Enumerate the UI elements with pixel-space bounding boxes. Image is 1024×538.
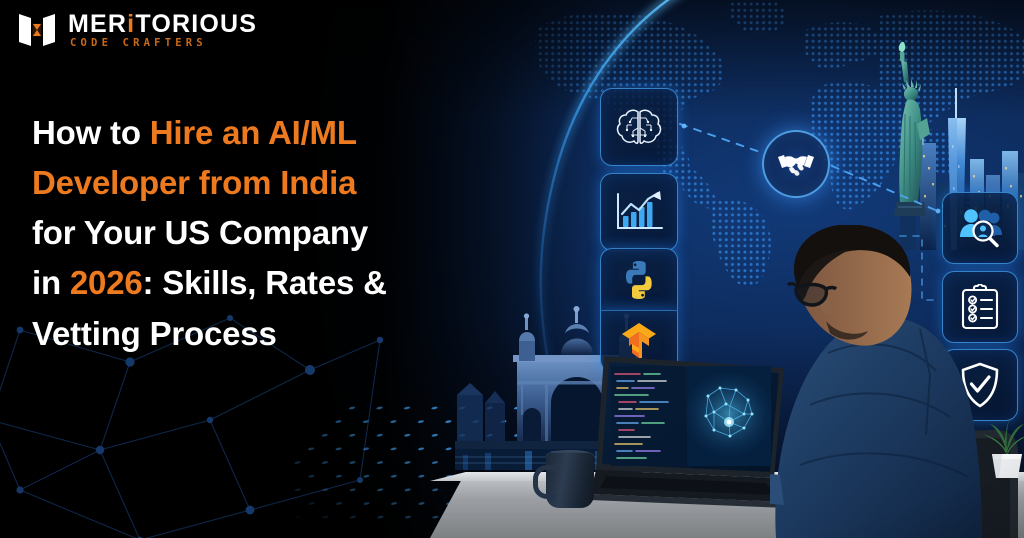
developer-person <box>770 225 1024 538</box>
brand-logo-text: MERiTORIOUS CODE CRAFTERS <box>68 12 257 49</box>
growth-chart-icon <box>614 190 664 234</box>
potted-plant <box>976 412 1024 480</box>
brand-tagline: CODE CRAFTERS <box>68 38 257 49</box>
headline-line-5: Vetting Process <box>32 309 462 359</box>
headline-line-1: How to Hire an AI/ML <box>32 108 462 158</box>
headline-line-3: for Your US Company <box>32 208 462 258</box>
handshake-icon <box>777 150 815 178</box>
headline-line-4-white-a: in <box>32 264 70 301</box>
brand-name: MERiTORIOUS <box>68 12 257 37</box>
headline-line-2: Developer from India <box>32 158 462 208</box>
handshake-node[interactable] <box>762 130 830 198</box>
headline-year: 2026 <box>70 264 143 301</box>
brand-logo[interactable]: MERiTORIOUS CODE CRAFTERS <box>18 10 257 50</box>
headline-line-4: in 2026: Skills, Rates & <box>32 258 462 308</box>
headline-line-1-white: How to <box>32 114 150 151</box>
icon-card-growth-chart[interactable] <box>600 173 678 251</box>
headline-line-1-orange: Hire an AI/ML <box>150 114 357 151</box>
brain-icon <box>615 107 663 147</box>
page-title: How to Hire an AI/ML Developer from Indi… <box>32 108 462 359</box>
python-logo-icon <box>618 259 660 301</box>
headline-line-4-white-b: : Skills, Rates & <box>143 264 387 301</box>
open-book-m-mark-icon <box>18 10 56 50</box>
laptop <box>588 352 798 512</box>
brand-name-part2: TORIOUS <box>135 10 257 38</box>
brand-name-part1: MER <box>68 10 127 38</box>
icon-card-brain[interactable] <box>600 88 678 166</box>
hero-banner: MERiTORIOUS CODE CRAFTERS How to Hire an… <box>0 0 1024 538</box>
icon-card-python[interactable] <box>600 248 678 310</box>
coffee-mug <box>546 453 594 508</box>
